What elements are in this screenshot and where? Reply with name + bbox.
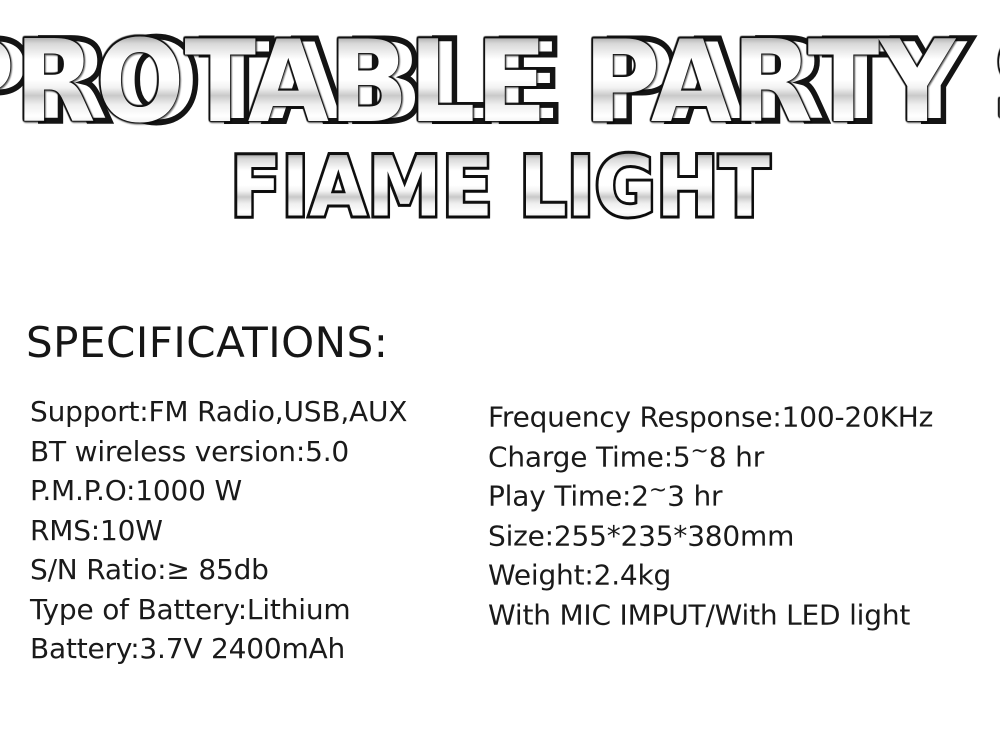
specifications-left-column: Support:FM Radio,USB,AUX BT wireless ver… [30, 392, 480, 669]
spec-item: RMS:10W [30, 511, 480, 551]
spec-item: S/N Ratio:≥ 85db [30, 550, 480, 590]
spec-item: Frequency Response:100-20KHz [488, 392, 988, 432]
spec-item: With MIC IMPUT/With LED light [488, 590, 988, 630]
spec-text-pre: Frequency Response:100-20KHz [488, 400, 933, 433]
spec-item: Type of Battery:Lithium [30, 590, 480, 630]
banner-title-sub-fill-wrap: FIAME LIGHT [248, 146, 752, 228]
banner-title-main-fill-wrap: PROTABLE PARTY SPEAKER [0, 26, 1000, 138]
banner-title-main: PROTABLE PARTY SPEAKER PROTABLE PARTY SP… [0, 34, 1000, 130]
spec-item: Weight:2.4kg [488, 550, 988, 590]
banner-title-sub: FIAME LIGHT FIAME LIGHT [0, 152, 1000, 222]
spec-item: Battery:3.7V 2400mAh [30, 629, 480, 669]
spec-item: Support:FM Radio,USB,AUX [30, 392, 480, 432]
spec-item: P.M.P.O:1000 W [30, 471, 480, 511]
spec-item: Size:255*235*380mm [488, 511, 988, 551]
spec-text-pre: Weight:2.4kg [488, 558, 671, 591]
product-spec-page: PROTABLE PARTY SPEAKER PROTABLE PARTY SP… [0, 0, 1000, 750]
specifications-right-column: Frequency Response:100-20KHz Charge Time… [488, 392, 988, 629]
banner-title-sub-text: FIAME LIGHT [230, 146, 770, 229]
spec-tilde: ~ [691, 439, 709, 464]
banner-title-main-text: PROTABLE PARTY SPEAKER [0, 25, 1000, 138]
spec-text-post: 3 hr [667, 479, 722, 512]
specifications-heading: SPECIFICATIONS: [26, 318, 388, 367]
spec-text-post: 8 hr [709, 440, 764, 473]
spec-text-pre: Play Time:2 [488, 479, 649, 512]
spec-text-pre: With MIC IMPUT/With LED light [488, 598, 910, 631]
spec-tilde: ~ [649, 478, 667, 503]
banner-header: PROTABLE PARTY SPEAKER PROTABLE PARTY SP… [0, 0, 1000, 262]
spec-item: Charge Time:5~8 hr [488, 432, 988, 472]
spec-text-pre: Charge Time:5 [488, 440, 691, 473]
spec-item: BT wireless version:5.0 [30, 432, 480, 472]
spec-item: Play Time:2~3 hr [488, 471, 988, 511]
spec-text-pre: Size:255*235*380mm [488, 519, 794, 552]
